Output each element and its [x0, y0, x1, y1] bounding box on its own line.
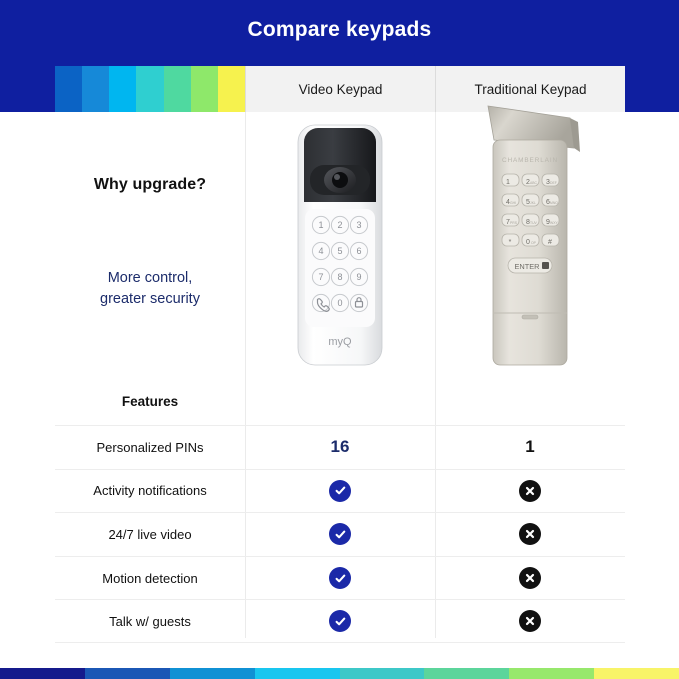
hero-subtitle-line-1: More control,	[108, 270, 193, 286]
brand-label-myq: myQ	[328, 336, 352, 348]
cell-video-keypad	[245, 470, 435, 513]
svg-text:PRS: PRS	[510, 221, 518, 225]
svg-text:7: 7	[318, 272, 323, 282]
table-row: 24/7 live video	[55, 512, 625, 556]
enter-button-label: ENTER	[514, 262, 539, 271]
bottom-color-swatch-7	[594, 668, 679, 679]
bottom-color-swatch-1	[85, 668, 170, 679]
x-icon	[519, 567, 541, 589]
svg-text:OP: OP	[531, 241, 537, 245]
features-section-header-row: Features	[55, 378, 625, 425]
cell-traditional-keypad	[435, 600, 625, 642]
svg-text:ABC: ABC	[530, 181, 538, 185]
traditional-keypad-illustration: CHAMBERLAIN 123 456 789 *0#	[474, 100, 586, 390]
page-title: Compare keypads	[0, 18, 679, 42]
bottom-color-bar	[0, 668, 679, 679]
product-image-video-keypad: 123 456 789 0 myQ	[245, 112, 435, 378]
hero-cell: Why upgrade? More control, greater secur…	[55, 112, 245, 378]
x-icon	[519, 480, 541, 502]
feature-label: Activity notifications	[55, 470, 245, 513]
svg-text:DEF: DEF	[550, 181, 557, 185]
table-row: Activity notifications	[55, 469, 625, 513]
svg-text:3: 3	[356, 220, 361, 230]
bottom-color-swatch-2	[170, 668, 255, 679]
hero-subtitle: More control, greater security	[100, 268, 200, 309]
svg-text:TUV: TUV	[530, 221, 538, 225]
cell-video-keypad	[245, 513, 435, 556]
table-row: Personalized PINs161	[55, 425, 625, 469]
cell-traditional-keypad: 1	[435, 426, 625, 469]
check-icon	[329, 610, 351, 632]
x-icon	[519, 610, 541, 632]
feature-label: Talk w/ guests	[55, 600, 245, 642]
feature-label: 24/7 live video	[55, 513, 245, 556]
comparison-table: Video Keypad Traditional Keypad Why upgr…	[55, 66, 625, 638]
video-keypad-illustration: 123 456 789 0 myQ	[294, 121, 386, 369]
svg-text:GHI: GHI	[510, 201, 516, 205]
svg-text:MNO: MNO	[550, 201, 558, 205]
bottom-color-swatch-4	[340, 668, 425, 679]
bottom-color-swatch-6	[509, 668, 594, 679]
brand-label-chamberlain: CHAMBERLAIN	[502, 157, 558, 164]
svg-text:4: 4	[318, 246, 323, 256]
cell-traditional-keypad	[435, 557, 625, 600]
cell-video-keypad	[245, 557, 435, 600]
column-header-video-keypad: Video Keypad	[245, 66, 435, 112]
x-icon	[519, 523, 541, 545]
cell-video-keypad: 16	[245, 426, 435, 469]
svg-text:8: 8	[337, 272, 342, 282]
features-header-label: Features	[55, 378, 245, 425]
svg-text:0: 0	[526, 239, 530, 246]
value-video: 16	[331, 437, 350, 457]
comparison-infographic: Compare keypads Video Keypad Traditional…	[0, 0, 679, 679]
bottom-color-swatch-5	[424, 668, 509, 679]
svg-text:5: 5	[337, 246, 342, 256]
feature-rows: Personalized PINs161Activity notificatio…	[55, 425, 625, 643]
svg-text:1: 1	[506, 179, 510, 186]
check-icon	[329, 567, 351, 589]
svg-text:1: 1	[318, 220, 323, 230]
svg-text:6: 6	[356, 246, 361, 256]
svg-text:*: *	[509, 239, 512, 246]
svg-text:9: 9	[356, 272, 361, 282]
svg-text:2: 2	[337, 220, 342, 230]
cell-traditional-keypad	[435, 513, 625, 556]
check-icon	[329, 480, 351, 502]
feature-label: Motion detection	[55, 557, 245, 600]
table-row: Talk w/ guests	[55, 599, 625, 643]
feature-label: Personalized PINs	[55, 426, 245, 469]
svg-text:JKL: JKL	[530, 201, 536, 205]
cell-traditional-keypad	[435, 470, 625, 513]
svg-text:0: 0	[337, 298, 342, 308]
svg-text:#: #	[548, 239, 552, 246]
cell-video-keypad	[245, 600, 435, 642]
product-image-traditional-keypad: CHAMBERLAIN 123 456 789 *0#	[435, 112, 625, 378]
hero-question: Why upgrade?	[94, 176, 206, 194]
bottom-color-swatch-0	[0, 668, 85, 679]
table-row: Motion detection	[55, 556, 625, 600]
hero-subtitle-line-2: greater security	[100, 291, 200, 307]
value-traditional: 1	[525, 437, 534, 457]
check-icon	[329, 523, 351, 545]
bottom-color-swatch-3	[255, 668, 340, 679]
svg-text:WXY: WXY	[550, 221, 558, 225]
